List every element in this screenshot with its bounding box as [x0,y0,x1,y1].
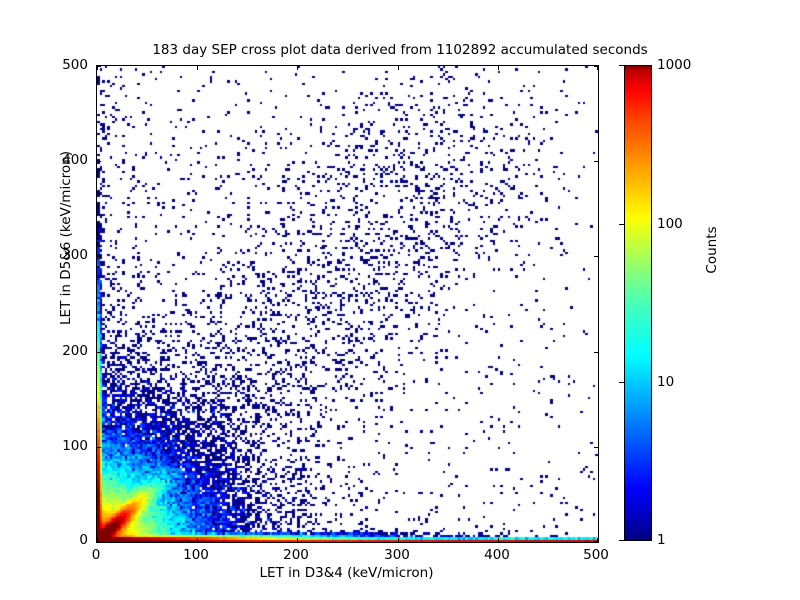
colorbar-tick-100 [619,224,624,225]
x-tick-top-500 [597,66,598,70]
x-tick-100 [197,538,198,542]
y-tick-right-400 [594,161,598,162]
colorbar-tick-label-10: 10 [657,374,674,390]
x-tick-label-200: 200 [283,547,309,563]
y-tick-right-100 [594,447,598,448]
colorbar-container: 1101001000 [624,65,652,541]
y-tick-100 [97,447,101,448]
colorbar-tick-label-100: 100 [657,216,683,232]
colorbar-gradient [625,66,651,540]
x-tick-200 [297,538,298,542]
x-tick-300 [398,538,399,542]
x-tick-top-300 [398,66,399,70]
x-tick-label-0: 0 [92,547,101,563]
x-tick-top-100 [197,66,198,70]
y-tick-400 [97,161,101,162]
y-tick-label-0: 0 [79,532,88,548]
x-tick-top-200 [297,66,298,70]
x-tick-label-300: 300 [384,547,410,563]
colorbar-tick-label-1: 1 [657,532,666,548]
x-tick-labels: 0100200300400500 [96,545,597,567]
y-axis-label: LET in D5&6 (keV/micron) [58,88,74,388]
y-tick-label-500: 500 [62,57,88,73]
plot-axes [96,65,599,543]
colorbar-tick-10 [619,382,624,383]
x-tick-label-500: 500 [583,547,609,563]
x-axis-label: LET in D3&4 (keV/micron) [96,565,597,581]
y-tick-right-300 [594,256,598,257]
colorbar-label: Counts [704,150,720,350]
y-tick-300 [97,256,101,257]
x-tick-0 [97,538,98,542]
x-tick-top-0 [97,66,98,70]
y-tick-right-200 [594,352,598,353]
figure-canvas: 183 day SEP cross plot data derived from… [0,0,800,600]
y-tick-200 [97,352,101,353]
x-tick-500 [597,538,598,542]
colorbar-tick-1 [619,540,624,541]
y-tick-label-100: 100 [62,438,88,454]
x-tick-400 [498,538,499,542]
density-heatmap [97,66,598,542]
x-tick-label-100: 100 [183,547,209,563]
x-tick-label-400: 400 [484,547,510,563]
x-tick-top-400 [498,66,499,70]
colorbar [624,65,652,541]
colorbar-tick-label-1000: 1000 [657,57,691,73]
colorbar-tick-1000 [619,65,624,66]
